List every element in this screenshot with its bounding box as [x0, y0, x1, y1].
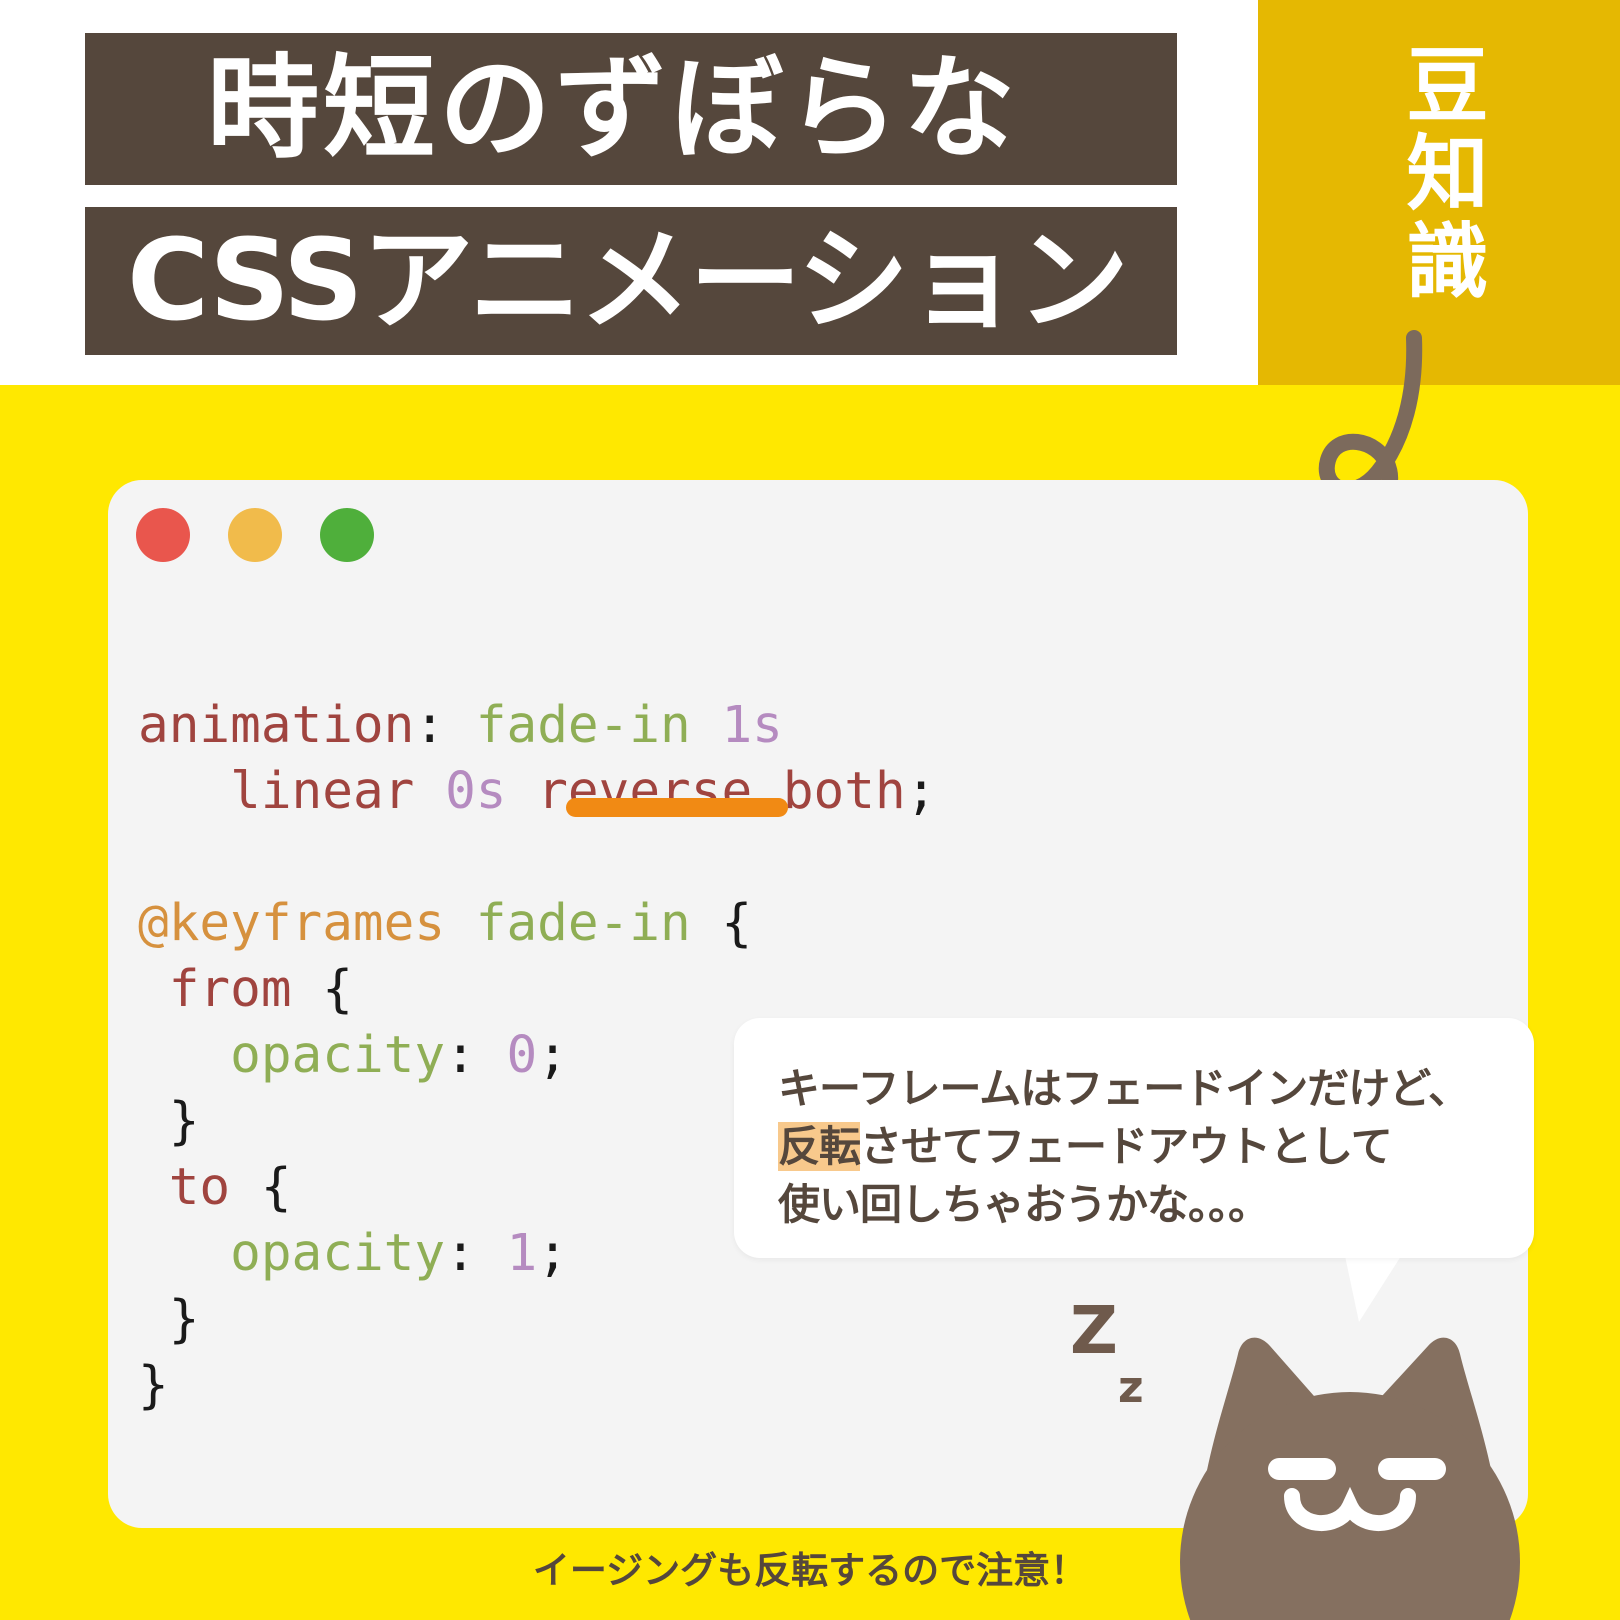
- speech-line-1: キーフレームはフェードインだけど、: [778, 1060, 1508, 1118]
- page-title-line-1: 時短のずぼらな: [85, 53, 1019, 165]
- footer-caption: イージングも反転するので注意！: [0, 1540, 1620, 1594]
- speech-line-3: 使い回しちゃおうかな。。。: [778, 1176, 1508, 1234]
- title-bar-line-2: CSSアニメーション: [85, 207, 1177, 355]
- badge-label: 豆知識: [1396, 42, 1482, 306]
- minimize-dot-icon[interactable]: [228, 508, 282, 562]
- sleep-mark-large: Z: [1070, 1292, 1118, 1369]
- speech-bubble-text: キーフレームはフェードインだけど、 反転させてフェードアウトとして 使い回しちゃ…: [778, 1060, 1508, 1234]
- speech-line-2: 反転させてフェードアウトとして: [778, 1118, 1508, 1176]
- maximize-dot-icon[interactable]: [320, 508, 374, 562]
- speech-highlight: 反転: [778, 1122, 860, 1171]
- poster-canvas: 豆知識 時短のずぼらな CSSアニメーション animation: fade-i…: [0, 0, 1620, 1620]
- close-dot-icon[interactable]: [136, 508, 190, 562]
- speech-bubble: キーフレームはフェードインだけど、 反転させてフェードアウトとして 使い回しちゃ…: [734, 1018, 1534, 1258]
- window-controls: [136, 508, 374, 562]
- reverse-keyword-underline: [566, 798, 788, 817]
- sleep-mark-small: z: [1118, 1362, 1144, 1413]
- title-bar-line-1: 時短のずぼらな: [85, 33, 1177, 185]
- page-title-line-2: CSSアニメーション: [85, 225, 1127, 337]
- speech-line-2-rest: させてフェードアウトとして: [860, 1122, 1392, 1171]
- badge-text-wrap: 豆知識: [1258, 42, 1620, 306]
